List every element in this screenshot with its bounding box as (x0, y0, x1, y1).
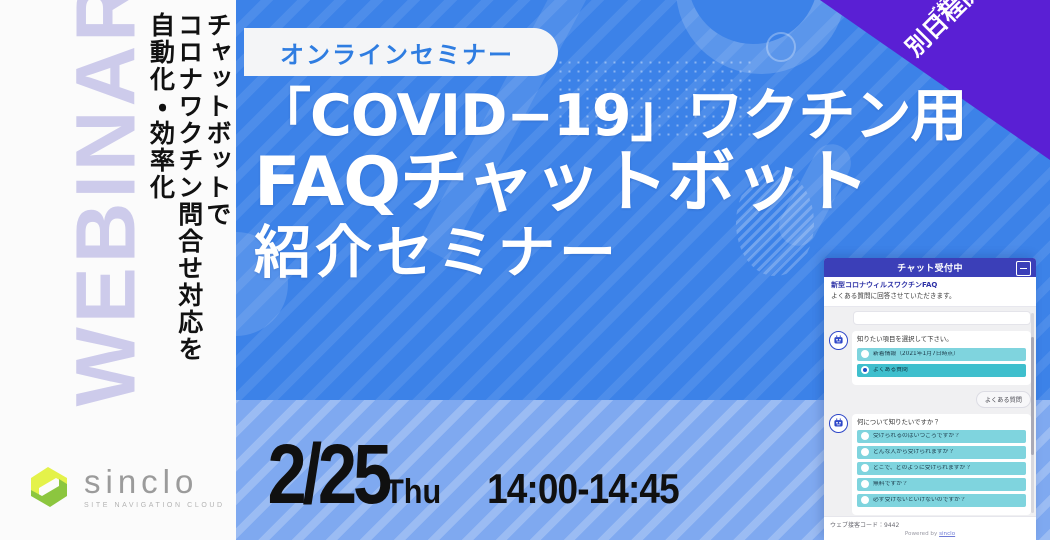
chat-intro: 新型コロナウィルスワクチンFAQ よくある質問に回答させていただきます。 (824, 277, 1036, 307)
sinclo-logo-mark-icon (26, 464, 72, 510)
chat-bubble-partial (853, 311, 1031, 325)
event-time-range: 14:00-14:45 (487, 465, 679, 513)
chat-option[interactable]: どこで、どのように受けられますか？ (857, 462, 1026, 475)
chat-intro-subtitle: よくある質問に回答させていただきます。 (831, 292, 1029, 301)
chat-option-label: 受けられるのはいつごろですか？ (873, 433, 960, 440)
chat-intro-title: 新型コロナウィルスワクチンFAQ (831, 281, 1029, 290)
radio-icon (861, 480, 869, 488)
chat-option-label: どんな人から受けられますか？ (873, 449, 954, 456)
chat-option-label: 新着情報（2021年1月7日時点） (873, 351, 959, 358)
chat-scrollbar-thumb[interactable] (1031, 337, 1034, 455)
chat-widget-title: チャット受付中 (897, 261, 963, 274)
chat-message-area[interactable]: 知りたい項目を選択して下さい。 新着情報（2021年1月7日時点） よくある質問 (824, 307, 1036, 534)
chat-powered-brand[interactable]: sinclo (939, 531, 955, 537)
sinclo-tagline: SITE NAVIGATION CLOUD (84, 502, 225, 509)
chat-user-reply-row: よくある質問 (829, 391, 1031, 408)
chat-powered-prefix: Powered by (905, 531, 939, 537)
webinar-banner: WEBINAR チャットボットで コロナワクチン問合せ対応を 自動化・効率化 s… (0, 0, 1050, 540)
left-copy-line-3: 自動化・効率化 (147, 12, 173, 417)
sinclo-logo: sinclo SITE NAVIGATION CLOUD (26, 464, 225, 510)
online-seminar-badge: オンラインセミナー (244, 28, 558, 76)
left-copy-block: チャットボットで コロナワクチン問合せ対応を 自動化・効率化 (147, 12, 230, 432)
chat-option[interactable]: 無料ですか？ (857, 478, 1026, 491)
chat-option-label: よくある質問 (873, 367, 908, 374)
headline-line-2: FAQチャットボット (254, 149, 1014, 217)
sinclo-logo-text: sinclo SITE NAVIGATION CLOUD (84, 465, 225, 509)
chat-option[interactable]: 受けられるのはいつごろですか？ (857, 430, 1026, 443)
decor-arc-inner (688, 0, 818, 44)
chat-message-row: 知りたい項目を選択して下さい。 新着情報（2021年1月7日時点） よくある質問 (829, 331, 1031, 384)
chat-option-selected[interactable]: よくある質問 (857, 364, 1026, 377)
chat-option[interactable]: どんな人から受けられますか？ (857, 446, 1026, 459)
radio-icon (861, 366, 869, 374)
chat-option[interactable]: 新着情報（2021年1月7日時点） (857, 348, 1026, 361)
minimize-icon[interactable] (1016, 261, 1031, 276)
decor-arc-outer (676, 0, 846, 74)
bot-avatar-icon (829, 414, 848, 433)
radio-icon (861, 496, 869, 504)
radio-icon (861, 464, 869, 472)
headline-block: 「COVID−19」ワクチン用 FAQチャットボット 紹介セミナー (254, 88, 1014, 282)
chat-option-label: 必ず受けないといけないのですか？ (873, 497, 966, 504)
chat-option-label: 無料ですか？ (873, 481, 908, 488)
chat-widget-footer: ウェブ接客コード：9442 Powered by sinclo (824, 516, 1036, 540)
chat-bot-bubble: 何について知りたいですか？ 受けられるのはいつごろですか？ どんな人から受けられ… (852, 414, 1031, 515)
chat-powered-by: Powered by sinclo (824, 531, 1036, 540)
radio-icon (861, 448, 869, 456)
decor-ring-small (766, 32, 796, 62)
event-day-of-week: Thu (385, 473, 441, 512)
chat-user-reply-chip[interactable]: よくある質問 (976, 391, 1031, 408)
bot-avatar-icon (829, 331, 848, 350)
chat-option[interactable]: 必ず受けないといけないのですか？ (857, 494, 1026, 507)
left-panel: WEBINAR チャットボットで コロナワクチン問合せ対応を 自動化・効率化 s… (0, 0, 236, 540)
chat-option-label: どこで、どのように受けられますか？ (873, 465, 971, 472)
chat-question-1: 知りたい項目を選択して下さい。 (857, 335, 1026, 343)
chat-question-2: 何について知りたいですか？ (857, 418, 1026, 426)
sinclo-wordmark: sinclo (84, 465, 225, 498)
online-seminar-badge-label: オンラインセミナー (280, 35, 514, 70)
left-copy-line-2: コロナワクチン問合せ対応を (176, 12, 202, 417)
event-date: 2/25 (267, 432, 388, 516)
radio-icon (861, 350, 869, 358)
headline-line-1: 「COVID−19」ワクチン用 (254, 88, 1014, 145)
chat-widget-mockup: チャット受付中 新型コロナウィルスワクチンFAQ よくある質問に回答させていただ… (824, 258, 1036, 540)
webinar-watermark: WEBINAR (58, 0, 155, 407)
radio-icon (861, 432, 869, 440)
left-copy-line-1: チャットボットで (204, 12, 230, 417)
chat-message-row: 何について知りたいですか？ 受けられるのはいつごろですか？ どんな人から受けられ… (829, 414, 1031, 515)
chat-service-code: ウェブ接客コード：9442 (824, 517, 1036, 531)
main-panel: ご好評につき 別日程開催！ オンラインセミナー 「COVID−19」ワクチン用 … (236, 0, 1050, 540)
event-date-row: 2/25 Thu 14:00-14:45 (256, 432, 692, 516)
chat-widget-header: チャット受付中 (824, 258, 1036, 277)
chat-bot-bubble: 知りたい項目を選択して下さい。 新着情報（2021年1月7日時点） よくある質問 (852, 331, 1031, 384)
